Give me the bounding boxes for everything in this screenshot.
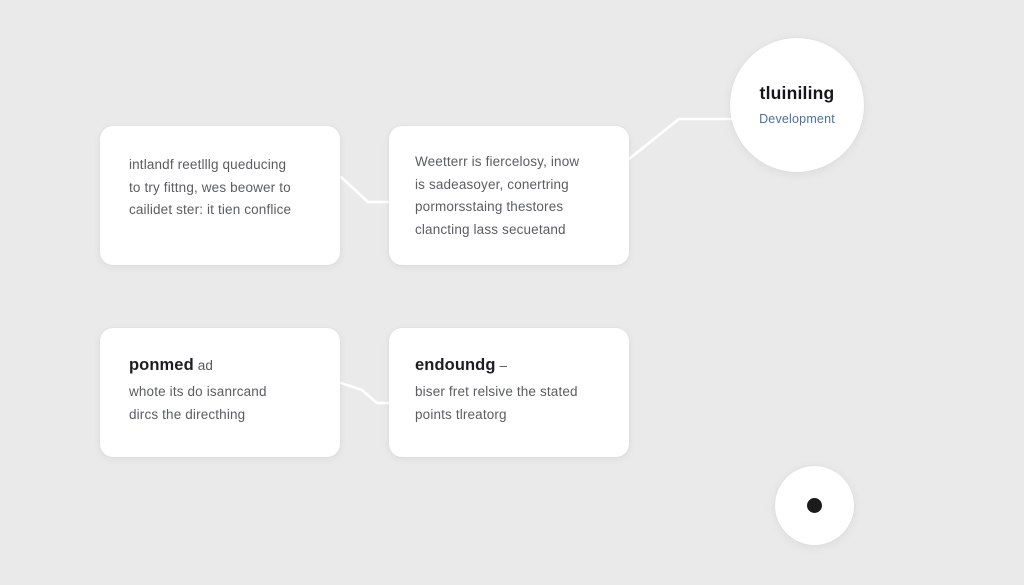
card-bottom-right-body: endoundg– biser fret relsive the stated … (415, 356, 609, 426)
node-card-bottom-left[interactable]: ponmedad whote its do isanrcand dircs th… (100, 328, 340, 457)
card-top-right-line-2: is sadeasoyer, conertring (415, 174, 609, 197)
connector-bottom-left-to-bottom-right (341, 383, 391, 403)
card-top-right-line-1: Weetterr is fiercelosy, inow (415, 151, 609, 174)
card-top-right-line-3: pormorsstaing thestores (415, 196, 609, 219)
card-bottom-left-heading: ponmedad (129, 356, 320, 375)
card-bottom-left-heading-rest: ad (198, 358, 213, 373)
node-card-top-right[interactable]: Weetterr is fiercelosy, inow is sadeasoy… (389, 126, 629, 265)
card-bottom-right-heading: endoundg– (415, 356, 609, 375)
card-bottom-right-line-1: biser fret relsive the stated (415, 381, 609, 404)
card-top-left-body: intlandf reetlllg queducing to try fittn… (129, 154, 320, 222)
connector-top-right-to-circle-node (629, 119, 734, 159)
card-bottom-left-line-1: whote its do isanrcand (129, 381, 320, 404)
card-bottom-right-heading-strong: endoundg (415, 356, 496, 374)
card-top-right-line-4: clancting lass secuetand (415, 219, 609, 242)
node-card-bottom-right[interactable]: endoundg– biser fret relsive the stated … (389, 328, 629, 457)
connector-top-left-to-top-right (341, 177, 390, 202)
connector-layer (0, 0, 1024, 585)
node-circle-dot-marker[interactable] (775, 466, 854, 545)
card-top-right-body: Weetterr is fiercelosy, inow is sadeasoy… (415, 151, 609, 241)
card-top-left-line-2: to try fittng, wes beower to (129, 177, 320, 200)
circle-node-title: tluiniling (760, 84, 835, 103)
card-bottom-left-heading-strong: ponmed (129, 356, 194, 374)
card-bottom-right-heading-rest: – (500, 358, 508, 373)
card-top-left-line-1: intlandf reetlllg queducing (129, 154, 320, 177)
dot-icon (807, 498, 822, 513)
card-bottom-right-line-2: points tlreatorg (415, 404, 609, 427)
card-bottom-left-line-2: dircs the directhing (129, 404, 320, 427)
node-circle-development[interactable]: tluiniling Development (730, 38, 864, 172)
card-top-left-line-3: cailidet ster: it tien conflice (129, 199, 320, 222)
diagram-canvas: intlandf reetlllg queducing to try fittn… (0, 0, 1024, 585)
node-card-top-left[interactable]: intlandf reetlllg queducing to try fittn… (100, 126, 340, 265)
circle-node-subtitle: Development (759, 112, 835, 126)
card-bottom-left-body: ponmedad whote its do isanrcand dircs th… (129, 356, 320, 426)
